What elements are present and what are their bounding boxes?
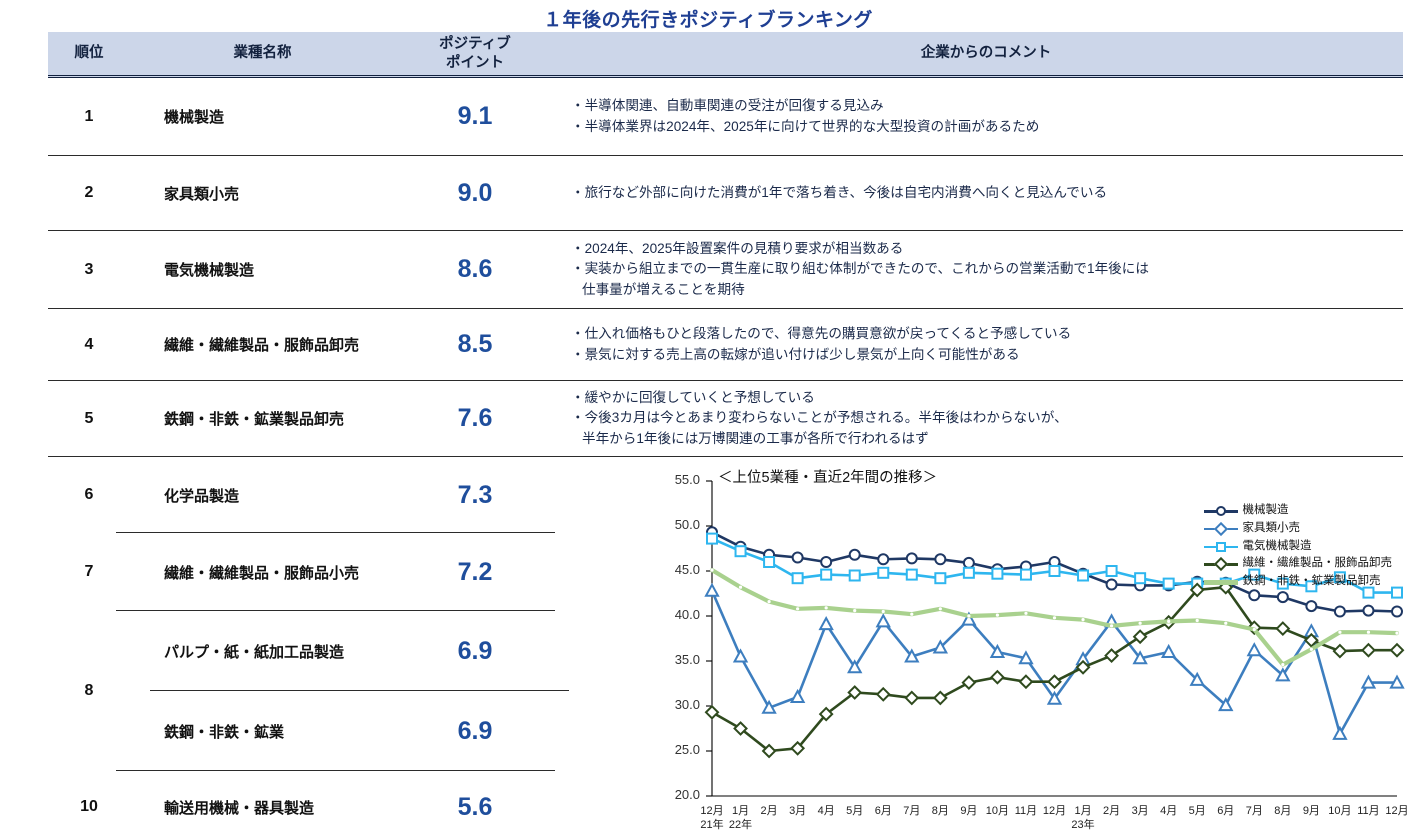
x-axis-tick-label: 5月: [841, 802, 869, 818]
chart-title: ＜上位5業種・直近2年間の推移＞: [718, 466, 937, 487]
cell-rank: 7: [48, 563, 130, 581]
x-axis-year-label: 22年: [727, 816, 755, 830]
cell-points: 7.2: [395, 558, 555, 587]
y-axis-tick-label: 30.0: [654, 697, 700, 712]
legend-item: 家具類小売: [1204, 520, 1393, 538]
cell-comment: ・旅行など外部に向けた消費が1年で落ち着き、今後は自宅内消費へ向くと見込んでいる: [555, 183, 1403, 203]
comment-line: ・実装から組立までの一貫生産に取り組む体制ができたので、これからの営業活動で1年…: [571, 259, 1403, 279]
column-header-industry: 業種名称: [130, 44, 395, 62]
x-axis-tick-label: 5月: [1183, 802, 1211, 818]
comment-line: ・半導体業界は2024年、2025年に向けて世界的な大型投資の計画があるため: [571, 117, 1403, 137]
y-axis-tick-label: 40.0: [654, 607, 700, 622]
legend-label: 電気機械製造: [1243, 538, 1312, 556]
x-axis-tick-label: 7月: [898, 802, 926, 818]
cell-rank: 8: [48, 611, 130, 771]
x-axis-tick-label: 2月: [755, 802, 783, 818]
cell-points: 7.6: [395, 404, 555, 433]
page-title: １年後の先行きポジティブランキング: [0, 5, 1416, 32]
cell-industry: 鉄鋼・非鉄・鉱業: [130, 721, 395, 742]
x-axis-tick-label: 4月: [1155, 802, 1183, 818]
x-axis-tick-label: 11月: [1012, 802, 1040, 818]
cell-points: 8.6: [395, 255, 555, 284]
legend-item: 機械製造: [1204, 502, 1393, 520]
legend-swatch-icon: [1204, 523, 1238, 535]
chart-legend: 機械製造家具類小売電気機械製造繊維・繊維製品・服飾品卸売鉄鋼・非鉄・鉱業製品卸売: [1204, 502, 1393, 591]
legend-label: 機械製造: [1243, 502, 1289, 520]
cell-rank: 2: [48, 184, 130, 202]
table-row[interactable]: 2 家具類小売 9.0 ・旅行など外部に向けた消費が1年で落ち着き、今後は自宅内…: [48, 156, 1403, 231]
x-axis-tick-label: 6月: [869, 802, 897, 818]
cell-comment: ・半導体関連、自動車関連の受注が回復する見込み ・半導体業界は2024年、202…: [555, 96, 1403, 137]
legend-item: 鉄鋼・非鉄・鉱業製品卸売: [1204, 573, 1393, 591]
legend-swatch-icon: [1204, 505, 1238, 517]
column-header-points-line1: ポジティブ: [395, 35, 555, 53]
x-axis-tick-label: 10月: [983, 802, 1011, 818]
cell-comment: ・仕入れ価格もひと段落したので、得意先の購買意欲が戻ってくると予感している ・景…: [555, 324, 1403, 365]
comment-line: ・半導体関連、自動車関連の受注が回復する見込み: [571, 96, 1403, 116]
x-axis-tick-label: 10月: [1326, 802, 1354, 818]
legend-label: 家具類小売: [1243, 520, 1301, 538]
cell-industry: 鉄鋼・非鉄・鉱業製品卸売: [130, 408, 395, 429]
legend-swatch-icon: [1204, 576, 1238, 588]
x-axis-tick-label: 3月: [784, 802, 812, 818]
x-axis-tick-label: 4月: [812, 802, 840, 818]
cell-points: 5.6: [395, 793, 555, 822]
legend-item: 電気機械製造: [1204, 538, 1393, 556]
comment-line: ・景気に対する売上高の転嫁が追い付けば少し景気が上向く可能性がある: [571, 345, 1403, 365]
comment-line: ・今後3カ月は今とあまり変わらないことが予想される。半年後はわからないが、: [571, 408, 1403, 428]
x-axis-tick-label: 7月: [1240, 802, 1268, 818]
comment-line: ・2024年、2025年設置案件の見積り要求が相当数ある: [571, 239, 1403, 259]
x-axis-tick-label: 8月: [1269, 802, 1297, 818]
cell-rank: 6: [48, 486, 130, 504]
trend-chart: ＜上位5業種・直近2年間の推移＞ 機械製造家具類小売電気機械製造繊維・繊維製品・…: [600, 466, 1416, 830]
slide-page: １年後の先行きポジティブランキング 順位 業種名称 ポジティブ ポイント 企業か…: [0, 0, 1416, 830]
y-axis-tick-label: 55.0: [654, 472, 700, 487]
cell-points: 9.0: [395, 179, 555, 208]
column-header-points: ポジティブ ポイント: [395, 35, 555, 71]
cell-industry: パルプ・紙・紙加工品製造: [130, 641, 395, 662]
row-divider: [150, 690, 569, 691]
cell-industry: 繊維・繊維製品・服飾品小売: [130, 562, 395, 583]
legend-item: 繊維・繊維製品・服飾品卸売: [1204, 555, 1393, 573]
cell-rank: 10: [48, 798, 130, 816]
cell-comment: ・緩やかに回復していくと予想している ・今後3カ月は今とあまり変わらないことが予…: [555, 388, 1403, 449]
x-axis-tick-label: 8月: [926, 802, 954, 818]
x-axis-tick-label: 11月: [1354, 802, 1382, 818]
x-axis-year-label: 21年: [698, 816, 726, 830]
legend-swatch-icon: [1204, 541, 1238, 553]
x-axis-tick-label: 2月: [1098, 802, 1126, 818]
x-axis-tick-label: 9月: [955, 802, 983, 818]
cell-points: 9.1: [395, 102, 555, 131]
legend-swatch-icon: [1204, 558, 1238, 570]
cell-comment: ・2024年、2025年設置案件の見積り要求が相当数ある ・実装から組立までの一…: [555, 239, 1403, 300]
cell-points: 8.5: [395, 330, 555, 359]
x-axis-tick-label: 9月: [1297, 802, 1325, 818]
cell-industry: 化学品製造: [130, 485, 395, 506]
cell-industry: 輸送用機械・器具製造: [130, 797, 395, 818]
x-axis-year-label: 23年: [1069, 816, 1097, 830]
comment-line: ・緩やかに回復していくと予想している: [571, 388, 1403, 408]
legend-label: 鉄鋼・非鉄・鉱業製品卸売: [1243, 573, 1381, 591]
x-axis-tick-label: 3月: [1126, 802, 1154, 818]
cell-points: 6.9: [395, 717, 555, 746]
cell-industry: 繊維・繊維製品・服飾品卸売: [130, 334, 395, 355]
table-row[interactable]: 3 電気機械製造 8.6 ・2024年、2025年設置案件の見積り要求が相当数あ…: [48, 231, 1403, 309]
y-axis-tick-label: 45.0: [654, 562, 700, 577]
cell-industry: 電気機械製造: [130, 259, 395, 280]
legend-label: 繊維・繊維製品・服飾品卸売: [1243, 555, 1393, 573]
column-header-comment: 企業からのコメント: [555, 44, 1403, 62]
y-axis-tick-label: 50.0: [654, 517, 700, 532]
cell-industry: 家具類小売: [130, 183, 395, 204]
table-row[interactable]: 4 繊維・繊維製品・服飾品卸売 8.5 ・仕入れ価格もひと段落したので、得意先の…: [48, 309, 1403, 381]
y-axis-tick-label: 20.0: [654, 787, 700, 802]
comment-line: ・旅行など外部に向けた消費が1年で落ち着き、今後は自宅内消費へ向くと見込んでいる: [571, 183, 1403, 203]
cell-rank: 5: [48, 410, 130, 428]
y-axis-tick-label: 35.0: [654, 652, 700, 667]
cell-rank: 3: [48, 261, 130, 279]
x-axis-tick-label: 6月: [1212, 802, 1240, 818]
cell-industry: 機械製造: [130, 106, 395, 127]
table-header-row: 順位 業種名称 ポジティブ ポイント 企業からのコメント: [48, 32, 1403, 78]
comment-line: 仕事量が増えることを期待: [571, 280, 1403, 300]
table-row[interactable]: 5 鉄鋼・非鉄・鉱業製品卸売 7.6 ・緩やかに回復していくと予想している ・今…: [48, 381, 1403, 457]
y-axis-tick-label: 25.0: [654, 742, 700, 757]
comment-line: ・仕入れ価格もひと段落したので、得意先の購買意欲が戻ってくると予感している: [571, 324, 1403, 344]
x-axis-tick-label: 12月: [1041, 802, 1069, 818]
x-axis-tick-label: 12月: [1383, 802, 1411, 818]
column-header-points-line2: ポイント: [395, 54, 555, 72]
column-header-rank: 順位: [48, 44, 130, 62]
table-row[interactable]: 1 機械製造 9.1 ・半導体関連、自動車関連の受注が回復する見込み ・半導体業…: [48, 78, 1403, 156]
comment-line: 半年から1年後には万博関連の工事が各所で行われるはず: [571, 429, 1403, 449]
cell-points: 7.3: [395, 481, 555, 510]
cell-points: 6.9: [395, 637, 555, 666]
cell-rank: 4: [48, 336, 130, 354]
cell-rank: 1: [48, 108, 130, 126]
